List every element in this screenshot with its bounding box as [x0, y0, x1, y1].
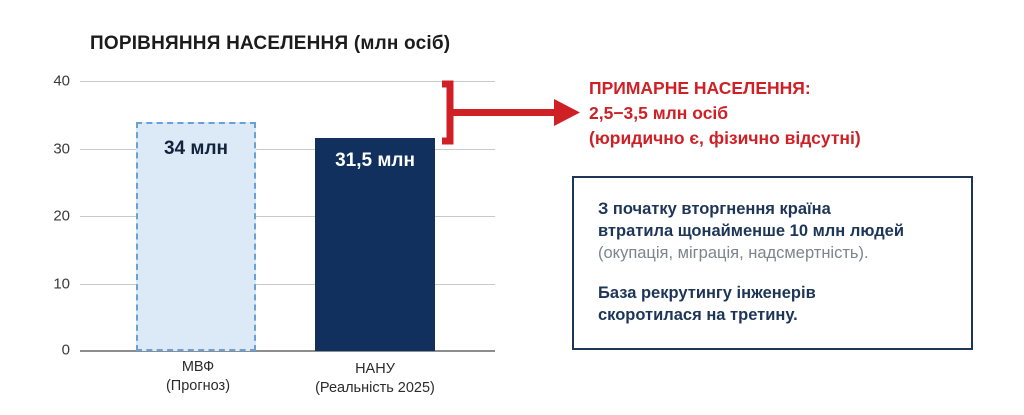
xtick-label-imf: МВФ (Прогноз): [120, 358, 276, 395]
ytick-label-20: 20: [53, 208, 70, 225]
callout-line-3: (юридично є, фізично відсутні): [589, 126, 1009, 151]
ytick-label-40: 40: [53, 73, 70, 90]
bar-nanu-reality[interactable]: 31,5 млн НАНУ (Реальність 2025): [315, 138, 435, 351]
bar-imf-forecast[interactable]: 34 млн МВФ (Прогноз): [136, 122, 256, 352]
info-box: З початку вторгнення країна втратила щон…: [572, 176, 973, 350]
chart-title-main: ПОРІВНЯННЯ НАСЕЛЕННЯ: [90, 33, 348, 54]
info-paragraph-recruiting: База рекрутингу інженерів скоротилася на…: [598, 283, 958, 327]
callout-line-2: 2,5−3,5 млн осіб: [589, 101, 1009, 126]
info-paragraph-losses: З початку вторгнення країна втратила щон…: [598, 199, 958, 265]
chart-title: ПОРІВНЯННЯ НАСЕЛЕННЯ (млн осіб): [90, 33, 450, 55]
xtick-imf-line1: МВФ: [120, 358, 276, 377]
ytick-label-0: 0: [62, 342, 70, 359]
info-p2-line2: скоротилася на третину.: [598, 305, 958, 327]
ytick-label-30: 30: [53, 140, 70, 157]
chart-title-unit: (млн осіб): [354, 33, 450, 54]
bar-value-nanu: 31,5 млн: [315, 150, 435, 172]
info-p1-line1: З початку вторгнення країна: [598, 199, 958, 221]
xtick-label-nanu: НАНУ (Реальність 2025): [280, 360, 470, 397]
info-p1-line3: (окупація, міграція, надсмертність).: [598, 243, 958, 265]
xtick-imf-line2: (Прогноз): [120, 377, 276, 396]
bar-value-imf: 34 млн: [138, 138, 254, 160]
gridline-40: 40: [80, 81, 495, 82]
ytick-label-10: 10: [53, 275, 70, 292]
xtick-nanu-line2: (Реальність 2025): [280, 379, 470, 398]
ghost-population-callout: ПРИМАРНЕ НАСЕЛЕННЯ: 2,5−3,5 млн осіб (юр…: [589, 76, 1009, 151]
info-p2-line1: База рекрутингу інженерів: [598, 283, 958, 305]
chart-plot-area: 40 30 20 10 0 34 млн МВФ (Прогноз) 31,5 …: [80, 81, 495, 351]
info-p1-line2: втратила щонайменше 10 млн людей: [598, 221, 958, 243]
xtick-nanu-line1: НАНУ: [280, 360, 470, 379]
callout-line-1: ПРИМАРНЕ НАСЕЛЕННЯ:: [589, 76, 1009, 101]
population-comparison-chart: ПОРІВНЯННЯ НАСЕЛЕННЯ (млн осіб) 40 30 20…: [0, 0, 520, 415]
